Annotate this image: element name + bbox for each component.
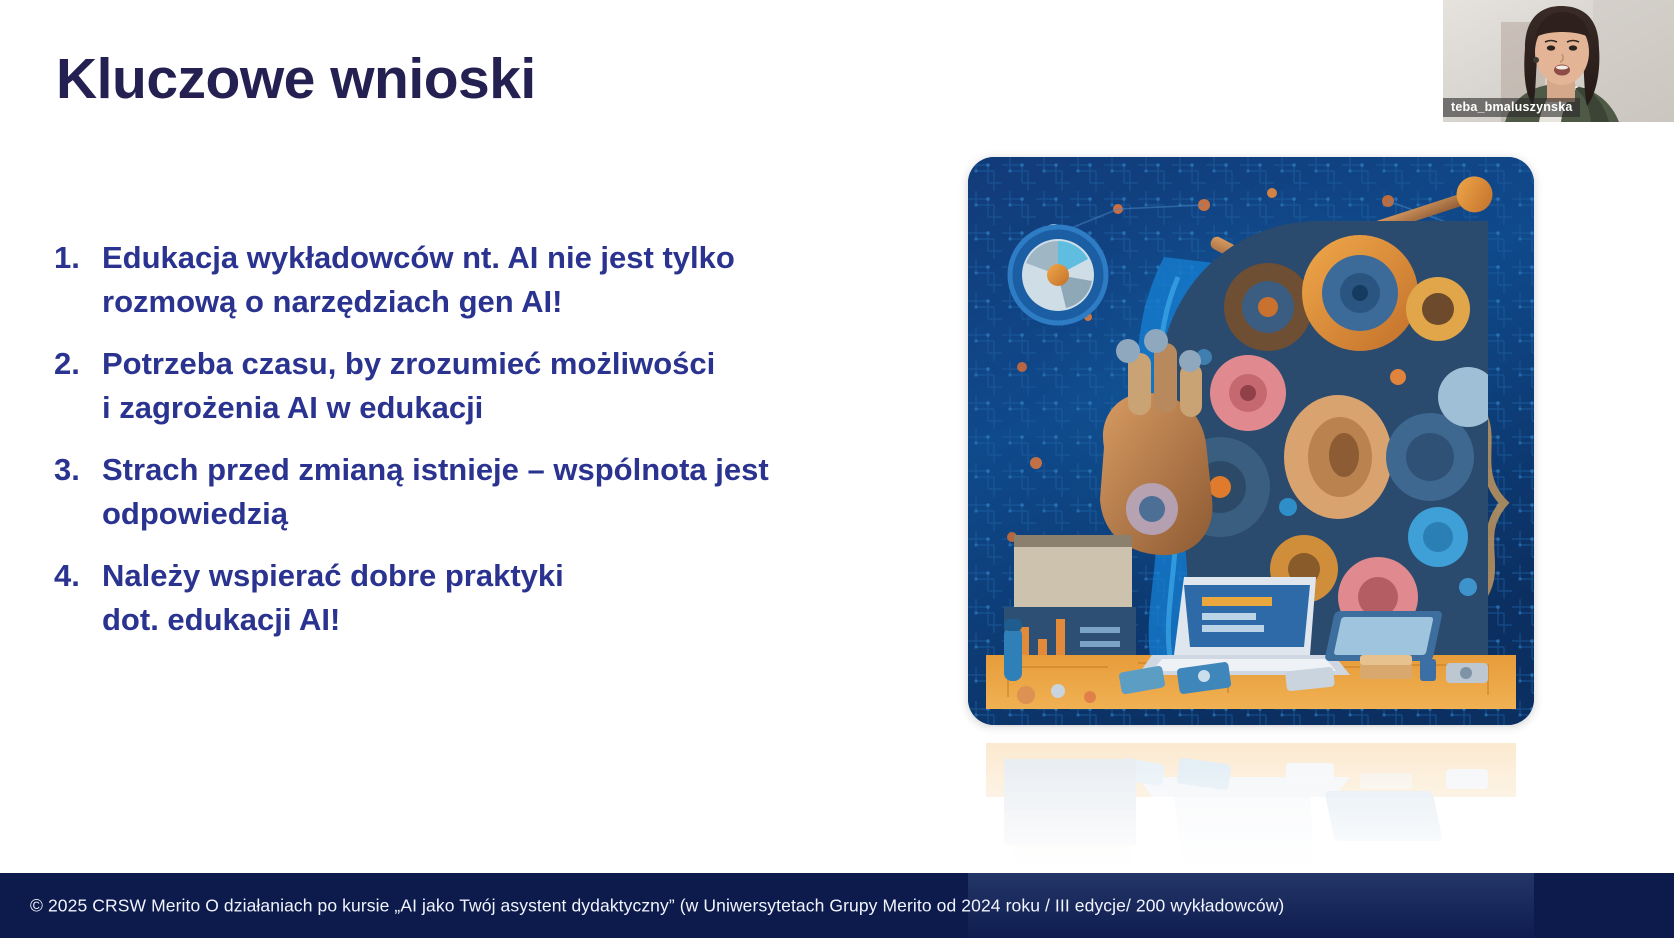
illustration-container — [968, 157, 1534, 725]
list-item-text: Potrzeba czasu, by zrozumieć możliwości … — [102, 342, 910, 430]
list-item-text: Strach przed zmianą istnieje – wspólnota… — [102, 448, 910, 536]
presentation-slide: Kluczowe wnioski 1. Edukacja wykładowców… — [0, 0, 1674, 938]
slide-footer-band: © 2025 CRSW Merito O działaniach po kurs… — [0, 873, 1674, 938]
webcam-video-tile[interactable]: teba_bmaluszynska — [1443, 0, 1674, 122]
ai-brain-illustration-image — [968, 157, 1534, 725]
page-title: Kluczowe wnioski — [56, 48, 536, 111]
list-item: 4. Należy wspierać dobre praktyki dot. e… — [50, 554, 910, 642]
list-item-text: Należy wspierać dobre praktyki dot. eduk… — [102, 554, 910, 642]
list-item-number: 1. — [50, 236, 102, 280]
webcam-participant-name: teba_bmaluszynska — [1443, 98, 1580, 117]
illustration-reflection — [968, 727, 1534, 875]
footer-copyright-text: © 2025 CRSW Merito O działaniach po kurs… — [30, 895, 1284, 916]
list-item: 1. Edukacja wykładowców nt. AI nie jest … — [50, 236, 910, 324]
list-item-number: 4. — [50, 554, 102, 598]
list-item-text: Edukacja wykładowców nt. AI nie jest tyl… — [102, 236, 910, 324]
list-item: 3. Strach przed zmianą istnieje – wspóln… — [50, 448, 910, 536]
key-conclusions-list: 1. Edukacja wykładowców nt. AI nie jest … — [50, 236, 910, 660]
list-item-number: 2. — [50, 342, 102, 386]
list-item: 2. Potrzeba czasu, by zrozumieć możliwoś… — [50, 342, 910, 430]
list-item-number: 3. — [50, 448, 102, 492]
